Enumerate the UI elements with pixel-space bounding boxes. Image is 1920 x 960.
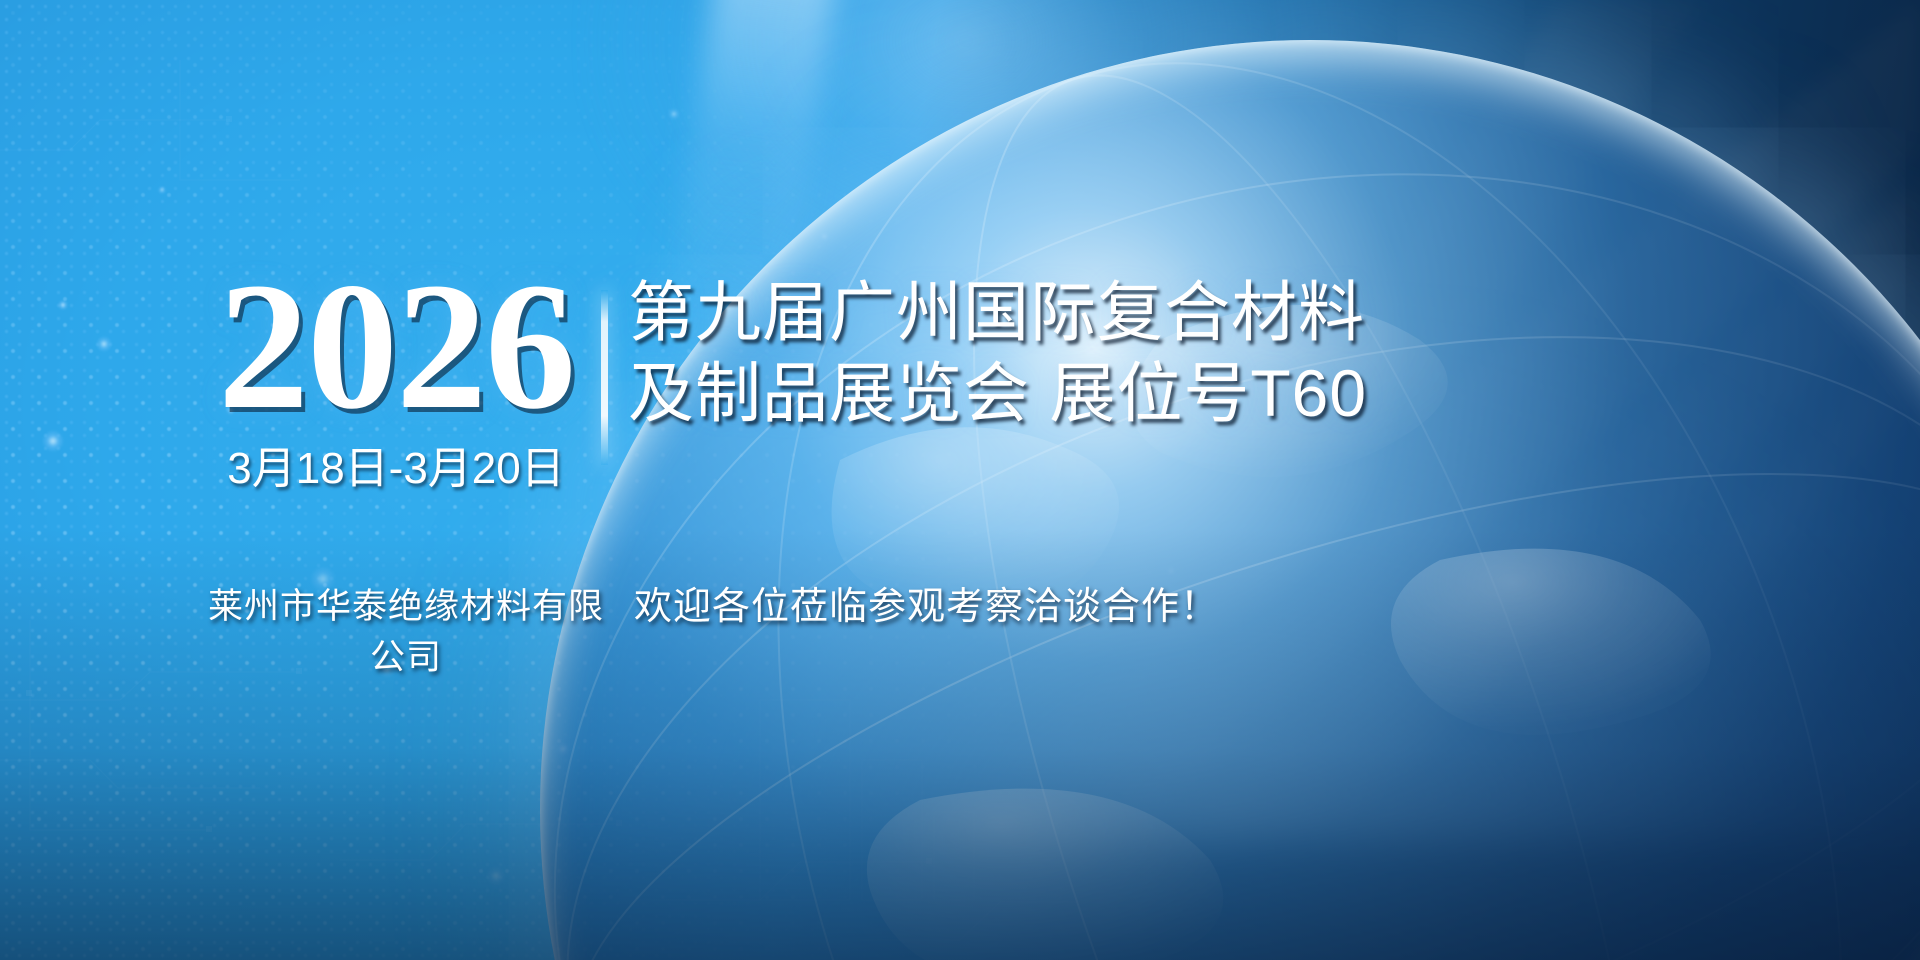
headline-block: 第九届广州国际复合材料 及制品展览会 展位号T60 xyxy=(628,272,1878,433)
headline-line-2: 及制品展览会 展位号T60 xyxy=(628,353,1878,434)
year-text: 2026 xyxy=(196,260,596,435)
headline-line-1: 第九届广州国际复合材料 xyxy=(628,272,1878,353)
vertical-divider xyxy=(601,290,608,465)
exhibition-banner: 2026 3月18日-3月20日 莱州市华泰绝缘材料有限公司 第九届广州国际复合… xyxy=(0,0,1920,960)
date-range-text: 3月18日-3月20日 xyxy=(196,445,596,493)
welcome-text: 欢迎各位莅临参观考察洽谈合作！ xyxy=(634,575,1219,630)
banner-content: 2026 3月18日-3月20日 莱州市华泰绝缘材料有限公司 第九届广州国际复合… xyxy=(0,0,1920,960)
year-block: 2026 3月18日-3月20日 xyxy=(196,260,596,493)
company-name-text: 莱州市华泰绝缘材料有限公司 xyxy=(196,578,616,680)
